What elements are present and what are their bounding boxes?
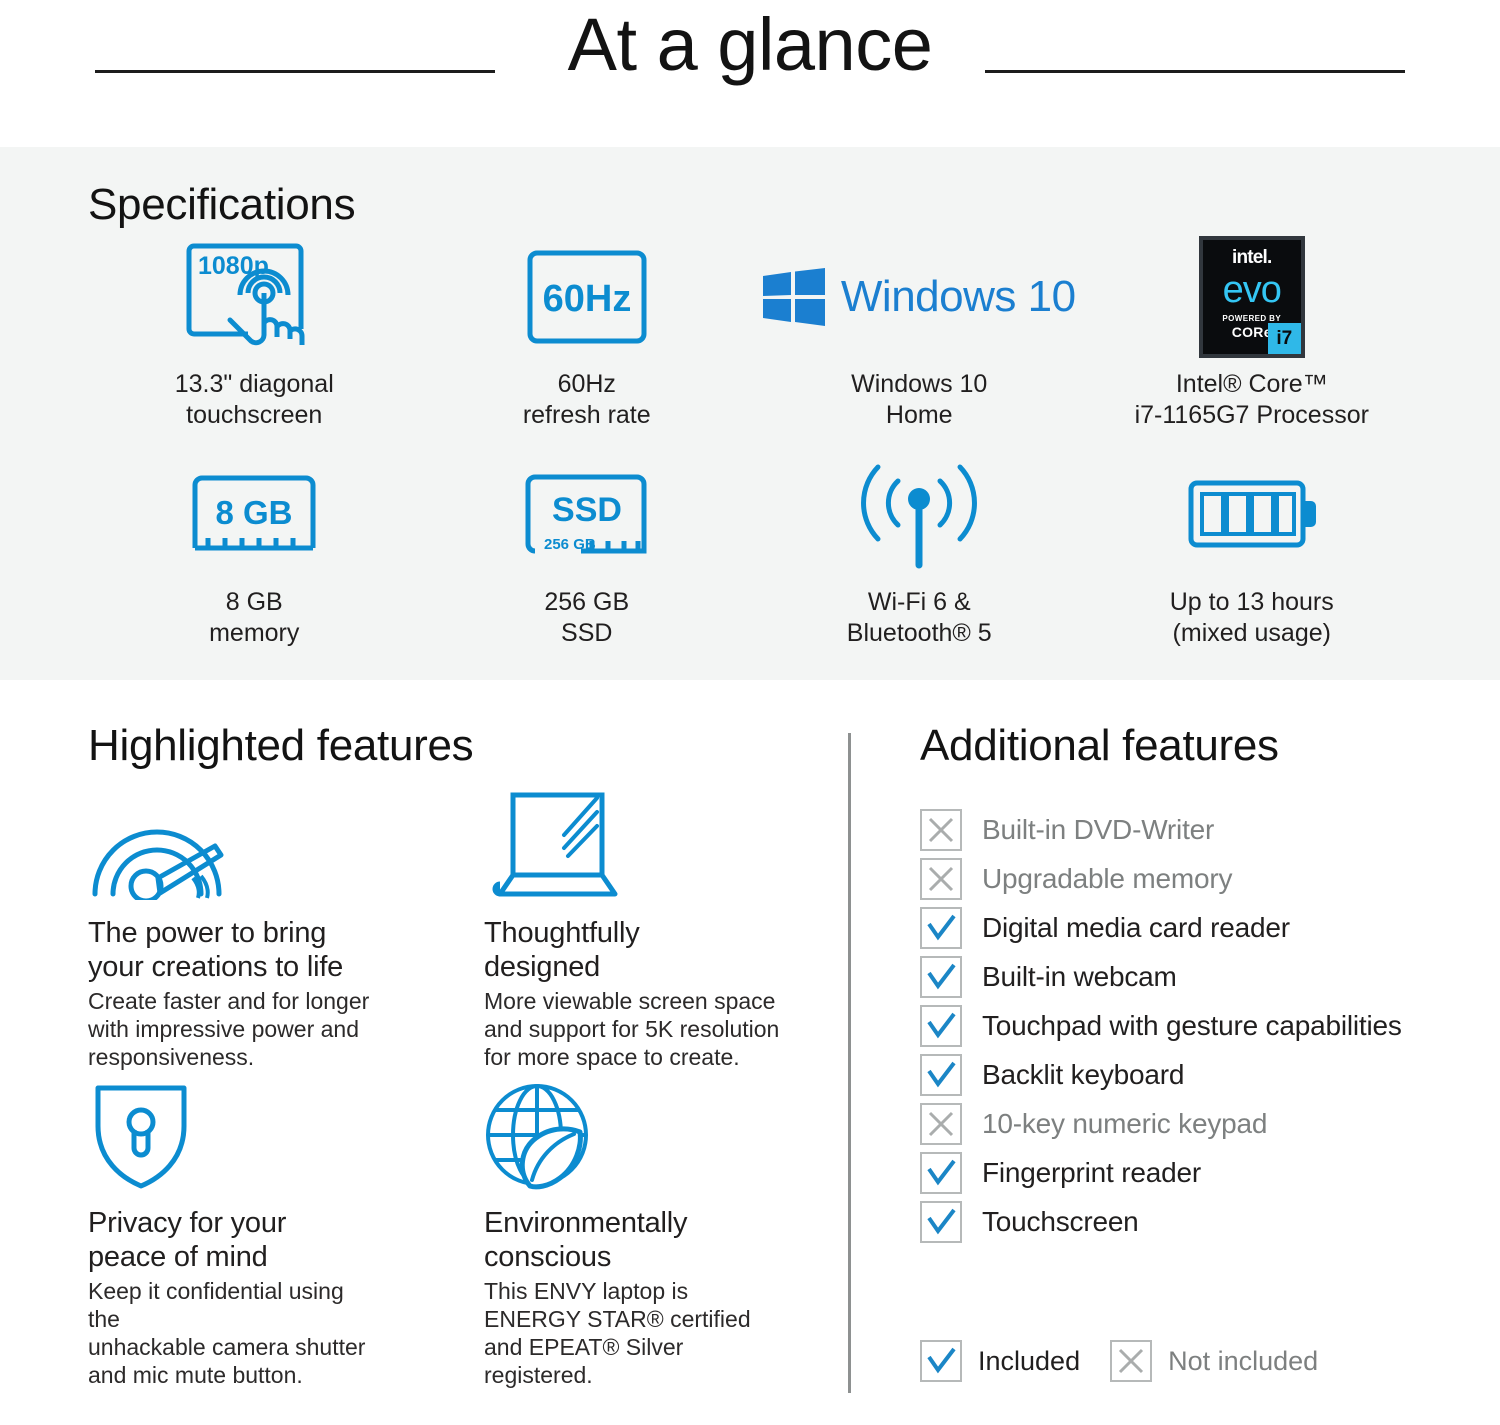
legend-not-included: Not included — [1110, 1340, 1318, 1382]
spec-label: Up to 13 hours(mixed usage) — [1170, 587, 1334, 649]
spec-item-windows: Windows 10 Windows 10Home — [753, 237, 1086, 455]
spec-label: Wi-Fi 6 &Bluetooth® 5 — [847, 587, 992, 649]
highlighted-feature-body: Create faster and for longerwith impress… — [88, 987, 378, 1071]
list-item: Digital media card reader — [920, 903, 1480, 952]
legend-included-label: Included — [978, 1345, 1080, 1377]
highlighted-features-grid: The power to bringyour creations to life… — [88, 792, 788, 1389]
spec-item-refresh-rate: 60Hz 60Hzrefresh rate — [421, 237, 754, 455]
intel-powered-by-text: POWERED BY — [1203, 314, 1301, 323]
additional-features-title: Additional features — [920, 720, 1279, 772]
highlighted-feature-heading: Environmentallyconscious — [484, 1206, 784, 1274]
list-item: Touchpad with gesture capabilities — [920, 1001, 1480, 1050]
svg-text:60Hz: 60Hz — [542, 278, 631, 320]
intel-evo-badge-icon: intel. evo POWERED BY CORe i7 — [1199, 237, 1305, 357]
list-item: Built-in DVD-Writer — [920, 805, 1480, 854]
highlighted-features-title: Highlighted features — [88, 720, 473, 772]
intel-tier-badge: i7 — [1268, 323, 1301, 354]
list-item: 10-key numeric keypad — [920, 1099, 1480, 1148]
highlighted-feature-heading: Thoughtfullydesigned — [484, 916, 784, 984]
svg-text:8 GB: 8 GB — [216, 494, 293, 531]
touchscreen-1080p-icon: 1080p — [186, 237, 322, 357]
laptop-screen-icon — [484, 792, 784, 900]
specifications-panel: Specifications 1080p — [0, 147, 1500, 680]
check-icon — [920, 907, 962, 949]
svg-text:SSD: SSD — [552, 491, 622, 529]
refresh-rate-icon: 60Hz — [526, 237, 648, 357]
header-rule-right — [985, 70, 1405, 73]
spec-item-memory: 8 GB 8 GBmemory — [88, 455, 421, 655]
list-item-label: Digital media card reader — [982, 911, 1290, 945]
check-icon — [920, 1201, 962, 1243]
highlighted-feature-environment: Environmentallyconscious This ENVY lapto… — [484, 1082, 784, 1389]
check-icon — [920, 1152, 962, 1194]
spec-label: 60Hzrefresh rate — [523, 369, 651, 431]
spec-item-battery: Up to 13 hours(mixed usage) — [1086, 455, 1419, 655]
spec-item-processor: intel. evo POWERED BY CORe i7 Intel® Cor… — [1086, 237, 1419, 455]
cross-icon — [920, 1103, 962, 1145]
speedometer-icon — [88, 792, 378, 900]
spec-label: Windows 10Home — [851, 369, 987, 431]
specifications-title: Specifications — [88, 179, 355, 231]
spec-item-wireless: Wi-Fi 6 &Bluetooth® 5 — [753, 455, 1086, 655]
highlighted-feature-privacy: Privacy for yourpeace of mind Keep it co… — [88, 1082, 378, 1389]
spec-item-storage: SSD 256 GB 256 GBSSD — [421, 455, 754, 655]
spec-label: 8 GBmemory — [209, 587, 299, 649]
list-item-label: Upgradable memory — [982, 862, 1232, 896]
header: At a glance — [0, 0, 1500, 147]
highlighted-feature-heading: The power to bringyour creations to life — [88, 916, 378, 984]
highlighted-feature-heading: Privacy for yourpeace of mind — [88, 1206, 378, 1274]
globe-leaf-icon — [484, 1082, 784, 1190]
list-item: Touchscreen — [920, 1197, 1480, 1246]
page-title: At a glance — [0, 2, 1500, 88]
cross-icon — [1110, 1340, 1152, 1382]
list-item: Upgradable memory — [920, 854, 1480, 903]
legend-not-included-label: Not included — [1168, 1345, 1318, 1377]
list-item-label: Built-in DVD-Writer — [982, 813, 1214, 847]
legend-included: Included — [920, 1340, 1080, 1382]
spec-label: 256 GBSSD — [544, 587, 629, 649]
additional-features-list: Built-in DVD-Writer Upgradable memory Di… — [920, 805, 1480, 1246]
list-item-label: Touchpad with gesture capabilities — [982, 1009, 1402, 1043]
intel-brand-text: intel. — [1203, 247, 1301, 269]
svg-text:256 GB: 256 GB — [544, 536, 596, 553]
check-icon — [920, 1005, 962, 1047]
highlighted-feature-design: Thoughtfullydesigned More viewable scree… — [484, 792, 784, 1082]
wifi-signal-icon — [855, 455, 983, 575]
list-item: Backlit keyboard — [920, 1050, 1480, 1099]
list-item-label: Built-in webcam — [982, 960, 1177, 994]
at-a-glance-infographic: At a glance Specifications 1080p — [0, 0, 1500, 1425]
lower-section: Highlighted features Additional features… — [0, 680, 1500, 1425]
list-item: Built-in webcam — [920, 952, 1480, 1001]
memory-stick-icon: 8 GB — [191, 455, 317, 575]
cross-icon — [920, 858, 962, 900]
spec-label: 13.3" diagonaltouchscreen — [175, 369, 334, 431]
specifications-grid: 1080p 13.3" diagonaltouchscreen — [88, 237, 1418, 655]
check-icon — [920, 1054, 962, 1096]
ssd-drive-icon: SSD 256 GB — [524, 455, 650, 575]
highlighted-feature-body: This ENVY laptop isENERGY STAR® certifie… — [484, 1277, 784, 1389]
cross-icon — [920, 809, 962, 851]
legend: Included Not included — [920, 1340, 1318, 1382]
highlighted-feature-power: The power to bringyour creations to life… — [88, 792, 378, 1082]
shield-keyhole-icon — [88, 1082, 378, 1190]
list-item-label: Touchscreen — [982, 1205, 1139, 1239]
spec-label: Intel® Core™i7-1165G7 Processor — [1135, 369, 1369, 431]
list-item-label: 10-key numeric keypad — [982, 1107, 1267, 1141]
intel-evo-text: evo — [1203, 271, 1301, 309]
spec-item-touchscreen: 1080p 13.3" diagonaltouchscreen — [88, 237, 421, 455]
check-icon — [920, 956, 962, 998]
list-item: Fingerprint reader — [920, 1148, 1480, 1197]
list-item-label: Fingerprint reader — [982, 1156, 1201, 1190]
battery-icon — [1187, 455, 1317, 575]
highlighted-feature-body: Keep it confidential using theunhackable… — [88, 1277, 378, 1389]
highlighted-feature-body: More viewable screen spaceand support fo… — [484, 987, 784, 1071]
check-icon — [920, 1340, 962, 1382]
windows-logo-text: Windows 10 — [841, 272, 1076, 322]
section-divider — [848, 733, 851, 1393]
list-item-label: Backlit keyboard — [982, 1058, 1184, 1092]
windows-logo-icon: Windows 10 — [763, 237, 1076, 357]
